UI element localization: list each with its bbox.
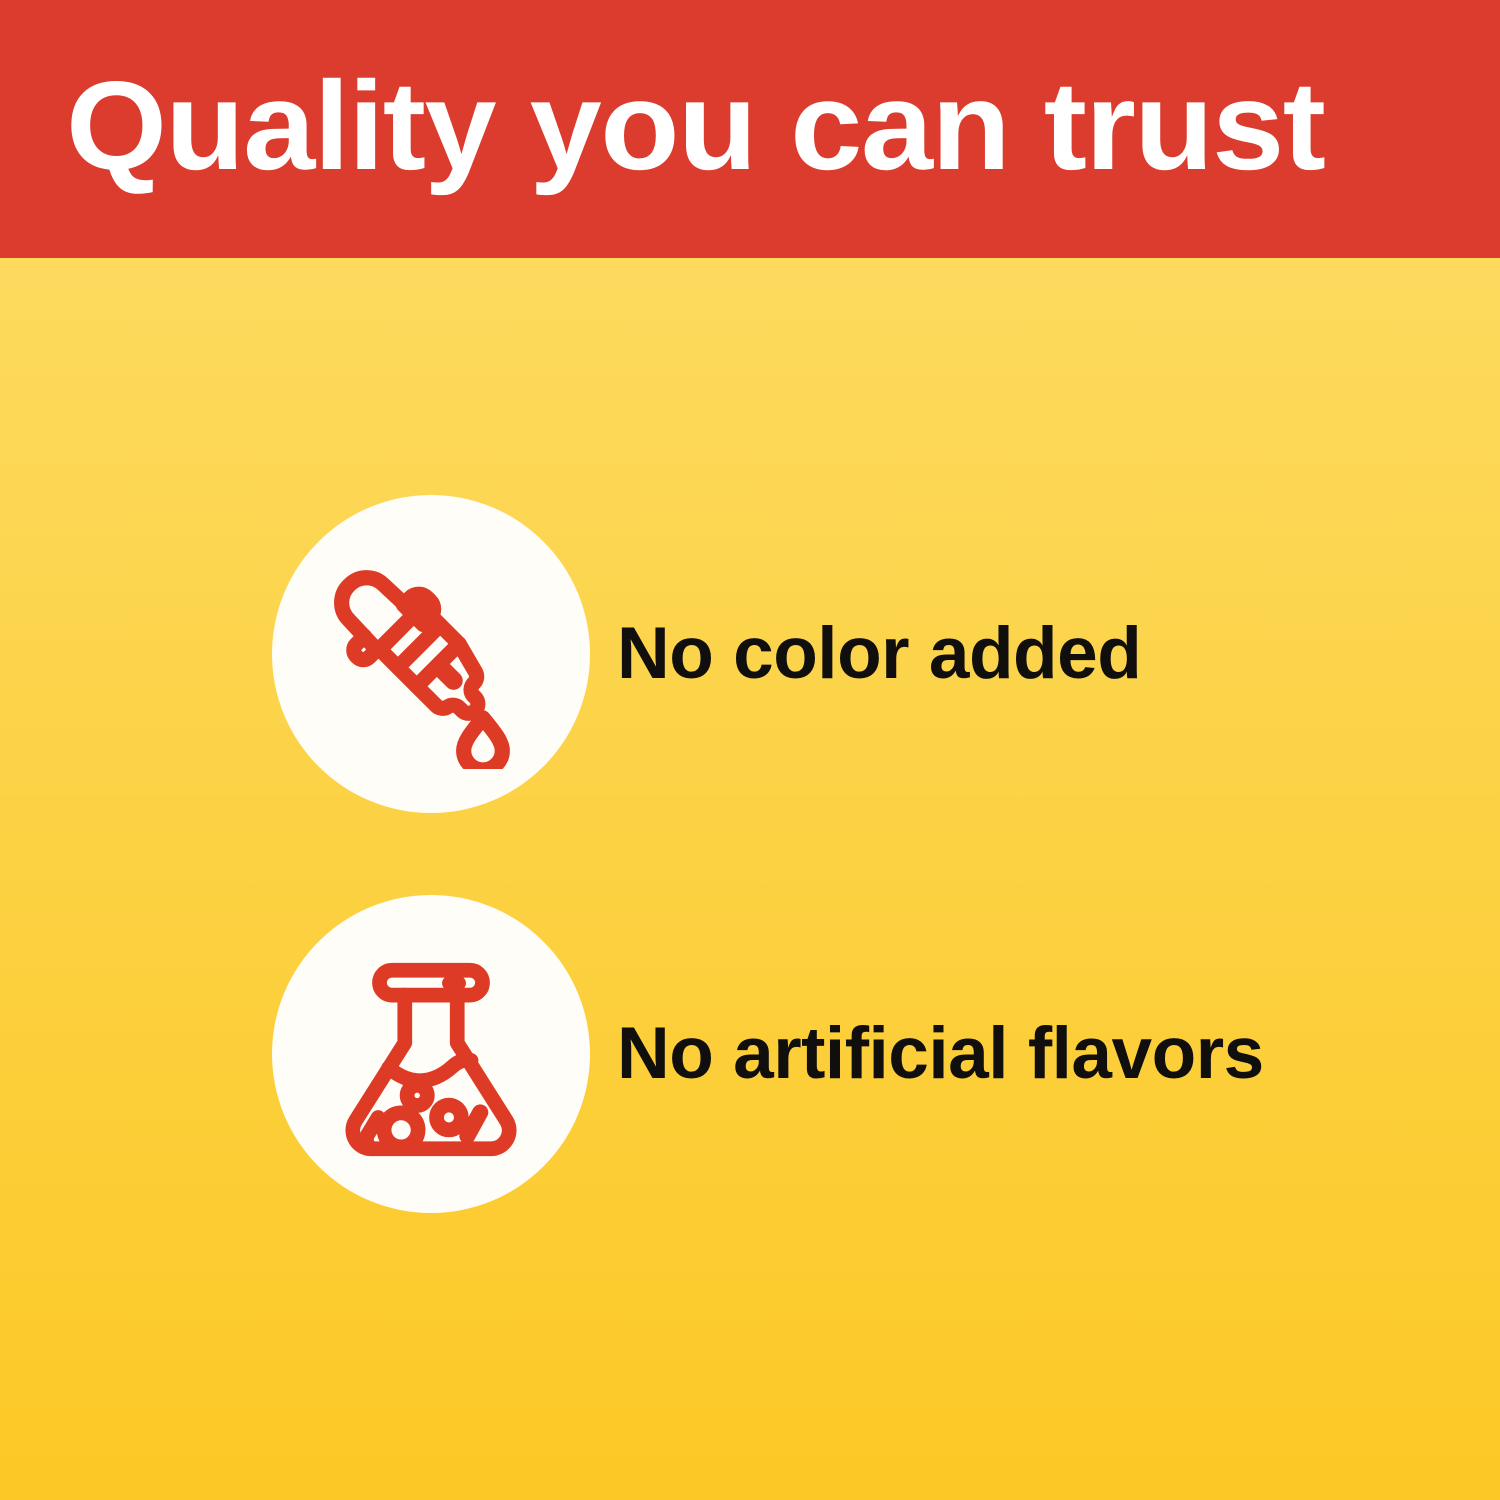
icon-badge-no-artificial-flavors xyxy=(272,895,590,1213)
feature-label-no-color-added: No color added xyxy=(617,495,1141,813)
feature-label-no-artificial-flavors: No artificial flavors xyxy=(617,895,1264,1213)
erlenmeyer-flask-icon xyxy=(316,939,546,1169)
header-band: Quality you can trust xyxy=(0,0,1500,258)
product-claims-infographic: Quality you can trust xyxy=(0,0,1500,1500)
eyedropper-icon xyxy=(316,539,546,769)
icon-badge-no-color-added xyxy=(272,495,590,813)
feature-row: No color added xyxy=(0,495,1500,815)
page-title: Quality you can trust xyxy=(66,62,1500,190)
feature-row: No artificial flavors xyxy=(0,895,1500,1215)
